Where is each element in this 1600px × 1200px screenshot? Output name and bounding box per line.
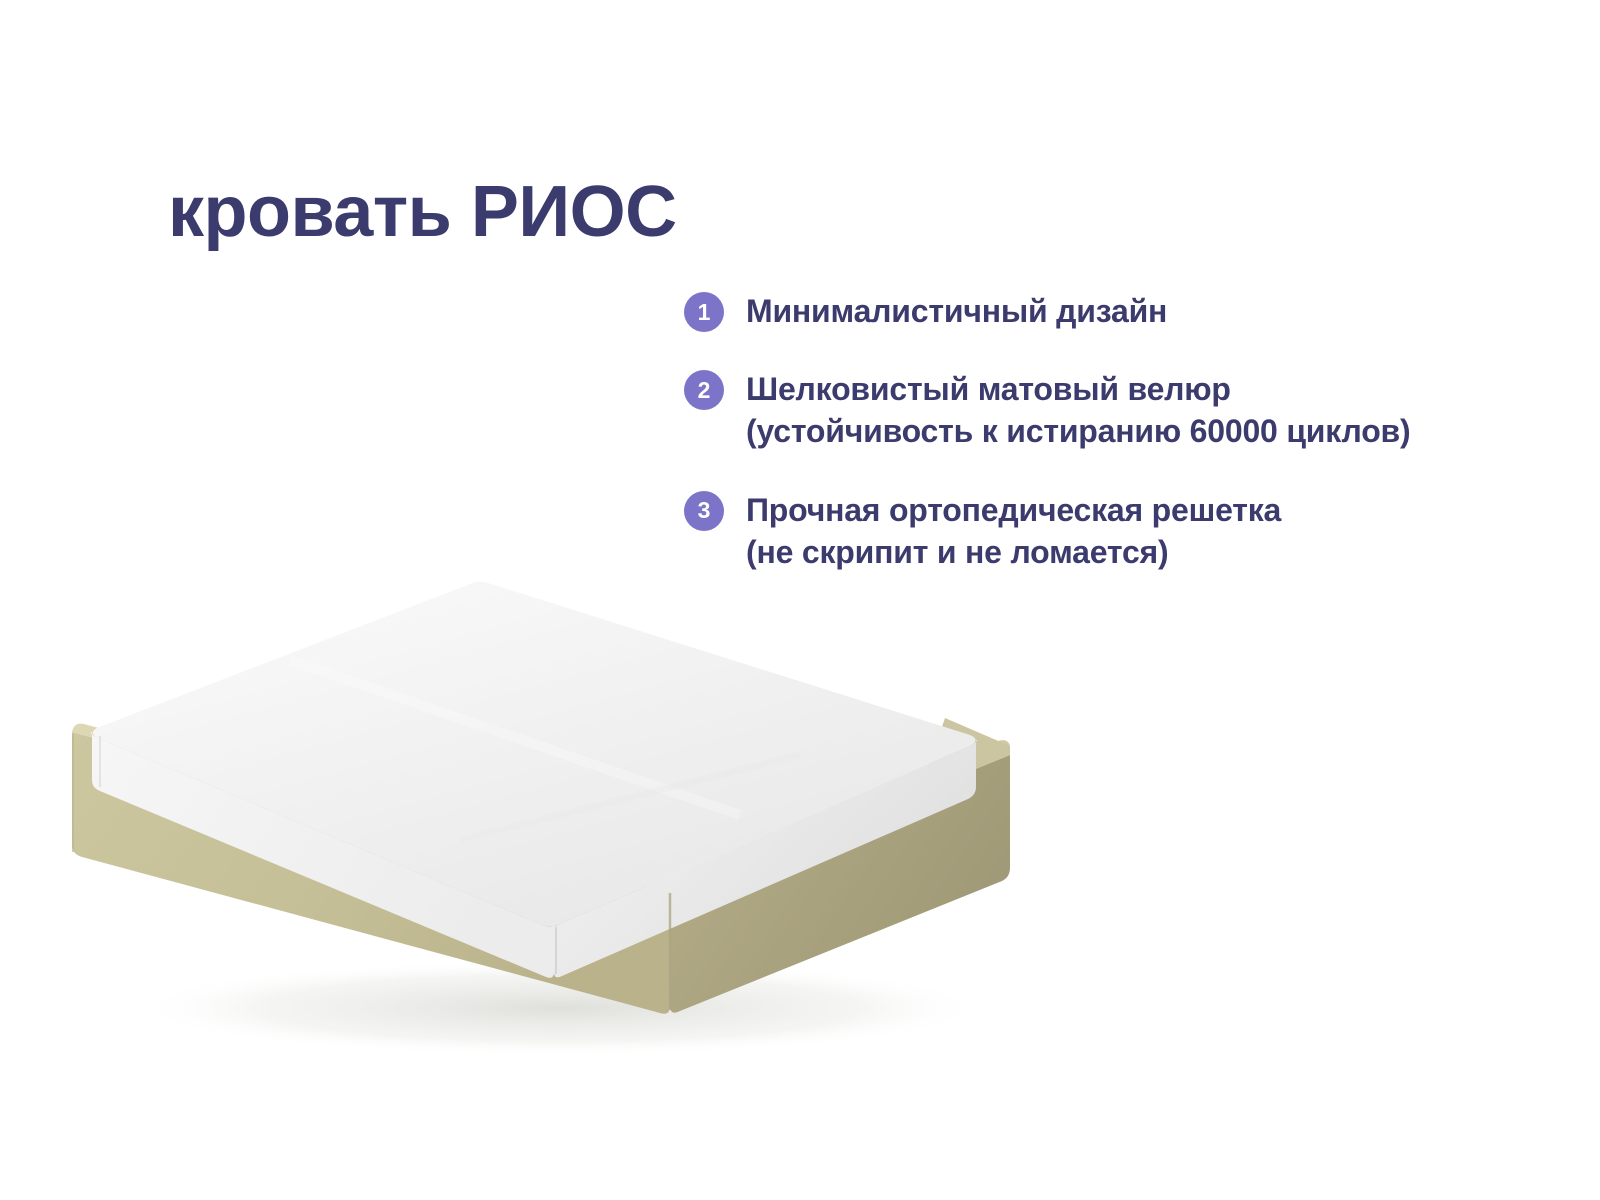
feature-badge-1: 1	[684, 292, 724, 332]
feature-badge-2: 2	[684, 370, 724, 410]
bed-render-svg	[40, 540, 1050, 1060]
poster-canvas: кровать РИОС 1 Минималистичный дизайн 2 …	[0, 0, 1600, 1200]
feature-item-1: 1 Минималистичный дизайн	[684, 290, 1544, 332]
feature-item-2: 2 Шелковистый матовый велюр (устойчивост…	[684, 368, 1544, 452]
page-title: кровать РИОС	[168, 176, 677, 248]
bed-product-image	[40, 540, 1050, 1060]
feature-text-1: Минималистичный дизайн	[746, 290, 1167, 332]
feature-badge-3: 3	[684, 491, 724, 531]
feature-text-2: Шелковистый матовый велюр (устойчивость …	[746, 368, 1410, 452]
feature-list: 1 Минималистичный дизайн 2 Шелковистый м…	[684, 290, 1544, 573]
